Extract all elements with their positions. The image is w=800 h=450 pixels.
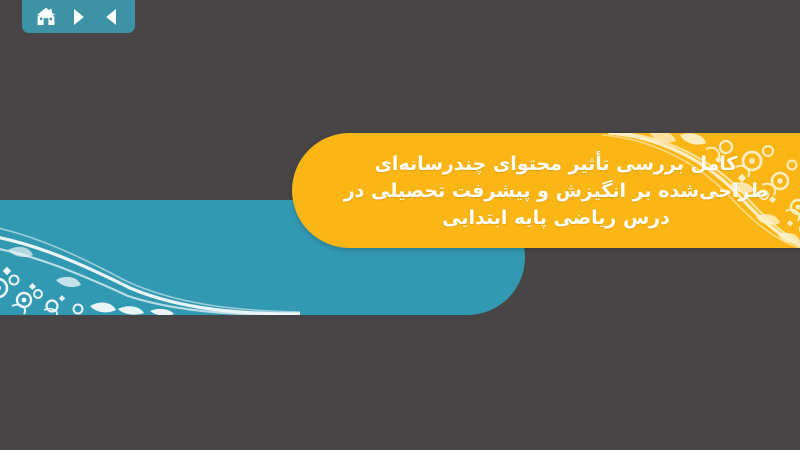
back-button[interactable] xyxy=(98,5,124,29)
home-button[interactable] xyxy=(33,5,59,29)
yellow-banner: کامل بررسی تأثیر محتوای چندرسانه‌ای طراح… xyxy=(292,133,800,248)
arabesque-ornament-teal xyxy=(0,210,300,315)
title-line-2: طراحی‌شده بر انگیزش و پیشرفت تحصیلی در xyxy=(344,178,769,204)
triangle-right-icon xyxy=(71,8,87,26)
triangle-left-icon xyxy=(103,8,119,26)
title-line-1: کامل بررسی تأثیر محتوای چندرسانه‌ای xyxy=(375,151,738,177)
slide-title: کامل بررسی تأثیر محتوای چندرسانه‌ای طراح… xyxy=(292,133,800,248)
home-icon xyxy=(36,7,56,26)
forward-button[interactable] xyxy=(66,5,92,29)
title-line-3: درس ریاضی پایه ابتدایی xyxy=(442,205,670,231)
slide-canvas: کامل بررسی تأثیر محتوای چندرسانه‌ای طراح… xyxy=(0,0,800,450)
navigation-bar xyxy=(22,0,135,33)
